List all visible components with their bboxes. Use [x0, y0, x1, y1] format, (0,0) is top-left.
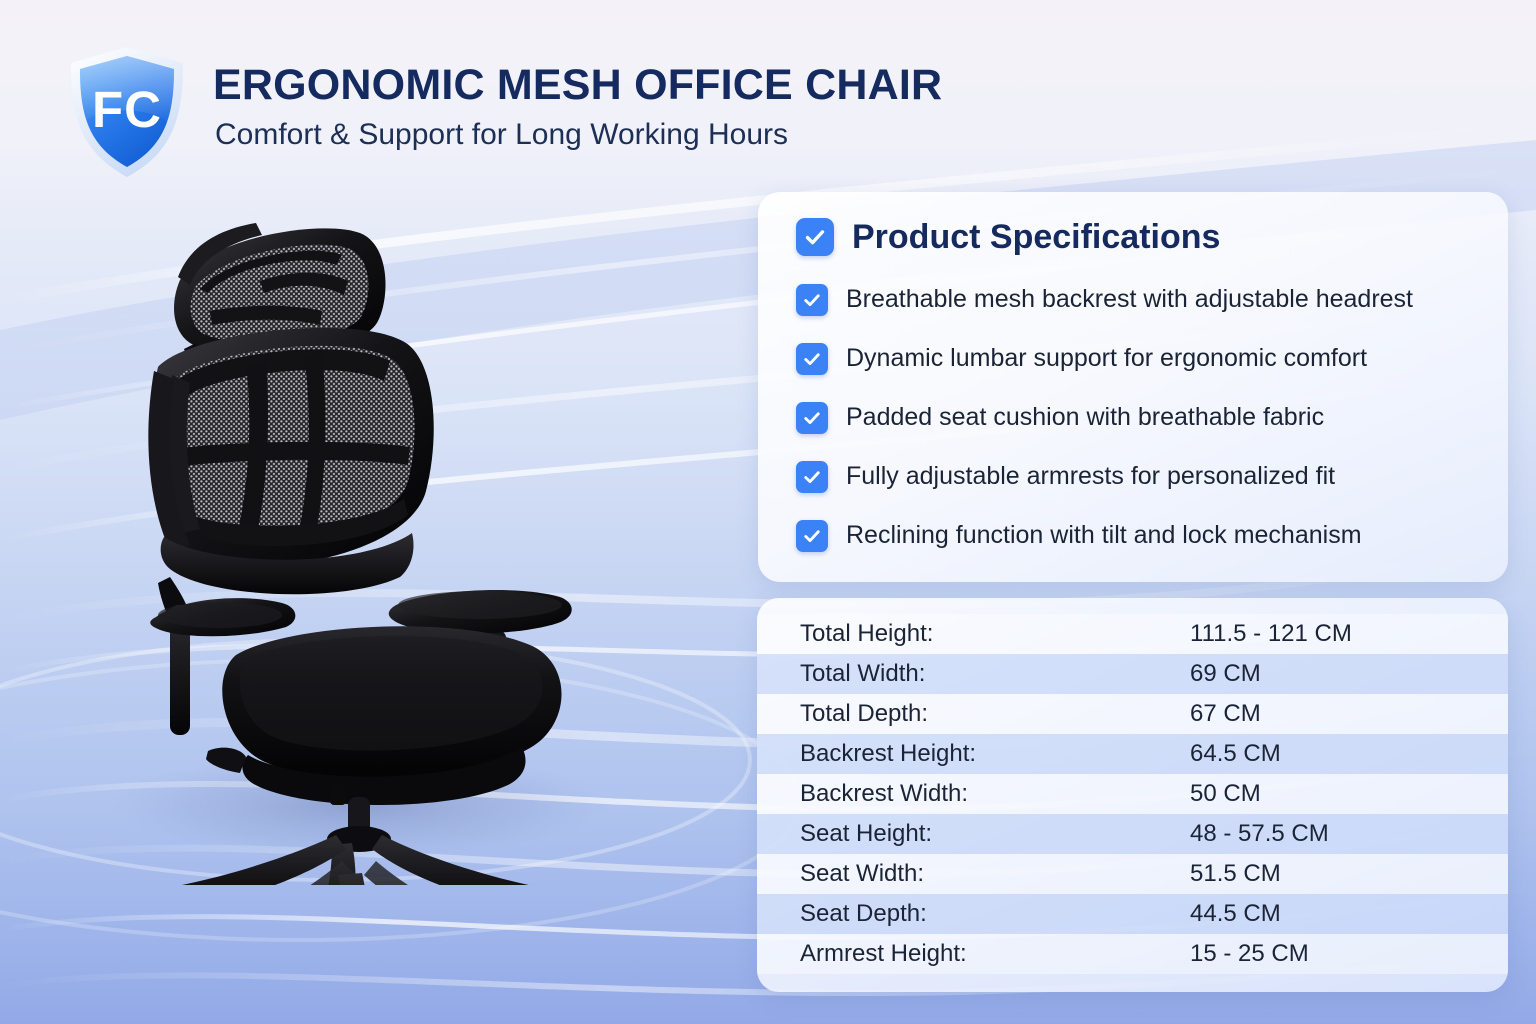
- list-item: Dynamic lumbar support for ergonomic com…: [796, 329, 1478, 388]
- shield-icon: FC: [63, 44, 191, 180]
- page-subtitle: Comfort & Support for Long Working Hours: [215, 119, 942, 151]
- checkbox-checked-icon[interactable]: [796, 343, 828, 375]
- dimension-value: 51.5 CM: [1158, 854, 1508, 894]
- product-image: [60, 185, 740, 885]
- checkbox-checked-icon[interactable]: [796, 520, 828, 552]
- list-item: Breathable mesh backrest with adjustable…: [796, 270, 1478, 329]
- dimension-value: 50 CM: [1158, 774, 1508, 814]
- dimension-value: 111.5 - 121 CM: [1158, 614, 1508, 654]
- product-specifications-card: Product Specifications Breathable mesh b…: [758, 192, 1508, 582]
- page-title: ERGONOMIC MESH OFFICE CHAIR: [213, 64, 942, 108]
- page-header: FC ERGONOMIC MESH OFFICE CHAIR Comfort &…: [0, 0, 1536, 185]
- table-row: Seat Depth: 44.5 CM: [757, 894, 1508, 934]
- feature-label: Fully adjustable armrests for personaliz…: [846, 464, 1335, 489]
- dimension-label: Seat Width:: [757, 854, 1158, 894]
- checkbox-checked-icon[interactable]: [796, 284, 828, 316]
- infographic-page: FC ERGONOMIC MESH OFFICE CHAIR Comfort &…: [0, 0, 1536, 1024]
- table-row: Armrest Height: 15 - 25 CM: [757, 934, 1508, 974]
- dimension-label: Armrest Height:: [757, 934, 1158, 974]
- checkbox-checked-icon[interactable]: [796, 402, 828, 434]
- feature-label: Reclining function with tilt and lock me…: [846, 523, 1362, 548]
- dimension-value: 69 CM: [1158, 654, 1508, 694]
- dimension-value: 48 - 57.5 CM: [1158, 814, 1508, 854]
- specifications-heading: Product Specifications: [796, 218, 1478, 256]
- dimension-label: Backrest Height:: [757, 734, 1158, 774]
- list-item: Fully adjustable armrests for personaliz…: [796, 447, 1478, 506]
- dimension-label: Total Depth:: [757, 694, 1158, 734]
- feature-label: Padded seat cushion with breathable fabr…: [846, 405, 1324, 430]
- dimension-label: Backrest Width:: [757, 774, 1158, 814]
- title-block: ERGONOMIC MESH OFFICE CHAIR Comfort & Su…: [213, 64, 942, 150]
- checkbox-checked-icon[interactable]: [796, 218, 834, 256]
- feature-label: Dynamic lumbar support for ergonomic com…: [846, 346, 1367, 371]
- table-row: Backrest Width: 50 CM: [757, 774, 1508, 814]
- table-row: Total Height: 111.5 - 121 CM: [757, 614, 1508, 654]
- table-row: Seat Height: 48 - 57.5 CM: [757, 814, 1508, 854]
- feature-list: Breathable mesh backrest with adjustable…: [796, 270, 1478, 565]
- list-item: Reclining function with tilt and lock me…: [796, 506, 1478, 565]
- dimension-value: 67 CM: [1158, 694, 1508, 734]
- table-row: Total Width: 69 CM: [757, 654, 1508, 694]
- feature-label: Breathable mesh backrest with adjustable…: [846, 287, 1413, 312]
- dimension-label: Seat Depth:: [757, 894, 1158, 934]
- dimension-value: 15 - 25 CM: [1158, 934, 1508, 974]
- table-row: Backrest Height: 64.5 CM: [757, 734, 1508, 774]
- dimension-value: 44.5 CM: [1158, 894, 1508, 934]
- dimension-label: Total Width:: [757, 654, 1158, 694]
- dimensions-table: Total Height: 111.5 - 121 CM Total Width…: [757, 614, 1508, 974]
- checkbox-checked-icon[interactable]: [796, 461, 828, 493]
- svg-text:FC: FC: [92, 81, 162, 138]
- table-row: Seat Width: 51.5 CM: [757, 854, 1508, 894]
- dimensions-table-card: Total Height: 111.5 - 121 CM Total Width…: [757, 598, 1508, 992]
- table-row: Total Depth: 67 CM: [757, 694, 1508, 734]
- dimension-value: 64.5 CM: [1158, 734, 1508, 774]
- dimension-label: Seat Height:: [757, 814, 1158, 854]
- specifications-heading-label: Product Specifications: [852, 220, 1220, 254]
- dimension-label: Total Height:: [757, 614, 1158, 654]
- list-item: Padded seat cushion with breathable fabr…: [796, 388, 1478, 447]
